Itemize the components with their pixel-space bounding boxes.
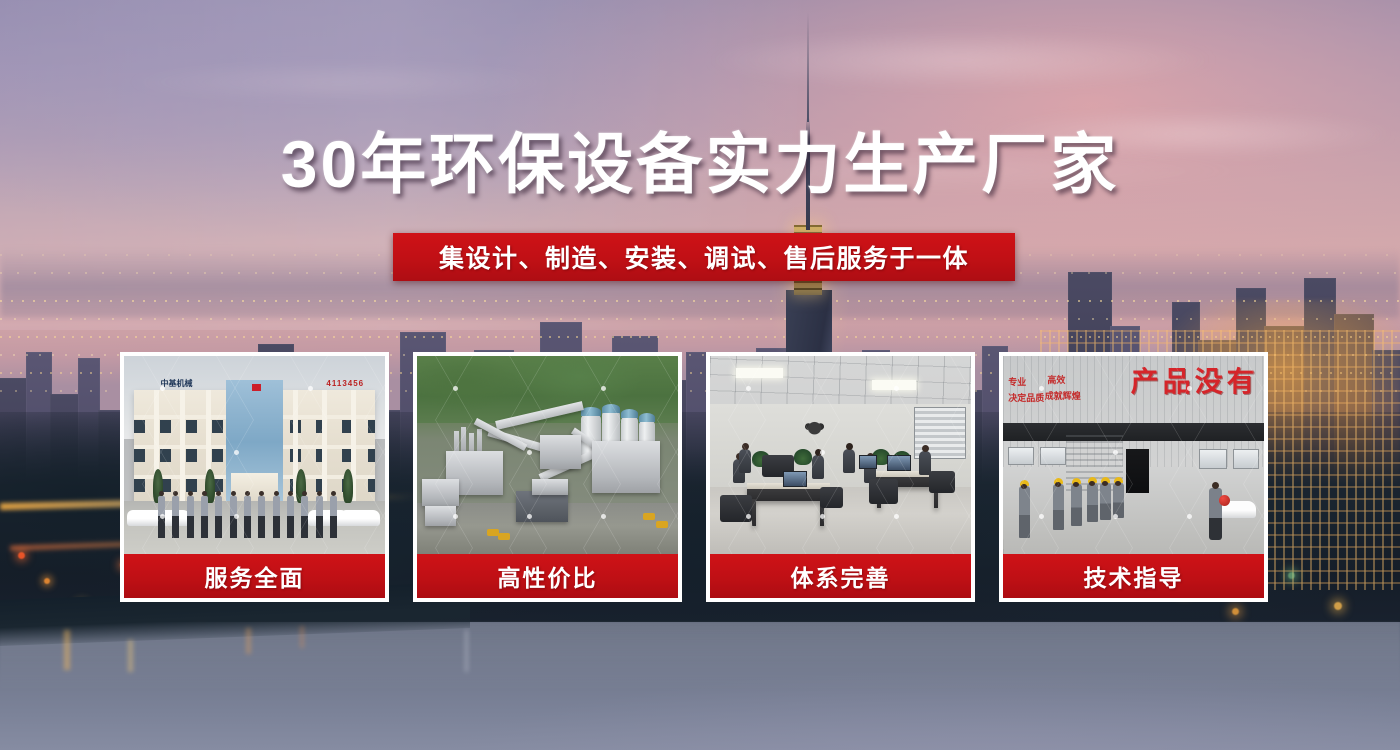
card-label-text: 体系完善 <box>791 559 891 593</box>
feature-card[interactable]: 体系完善 <box>706 352 975 602</box>
building-phone-text: 4113456 <box>275 376 364 392</box>
factory-banner-text: 产品没有 <box>1107 360 1258 400</box>
hero-banner: 30年环保设备实力生产厂家 集设计、制造、安装、调试、售后服务于一体 <box>0 0 1400 750</box>
subtitle-banner: 集设计、制造、安装、调试、售后服务于一体 <box>393 233 1015 281</box>
river-sheen <box>0 622 1400 750</box>
feature-card[interactable]: 高性价比 <box>413 352 682 602</box>
water-reflection <box>465 630 468 672</box>
factory-workers-training-photo: 产品没有 专业 决定品质 高效 成就辉煌 <box>999 352 1268 554</box>
page-title: 30年环保设备实力生产厂家 <box>0 131 1400 197</box>
card-label: 技术指导 <box>999 554 1268 602</box>
feature-card-row: 中基机械 4113456 <box>120 352 1280 602</box>
card-label-text: 技术指导 <box>1084 559 1184 593</box>
water-reflection <box>246 628 251 654</box>
subtitle-text: 集设计、制造、安装、调试、售后服务于一体 <box>439 239 969 275</box>
feature-card[interactable]: 中基机械 4113456 <box>120 352 389 602</box>
card-label: 服务全面 <box>120 554 389 602</box>
tower-spire-tip <box>807 12 809 122</box>
factory-slogan-text: 专业 <box>1008 378 1026 388</box>
card-label-text: 高性价比 <box>498 559 598 593</box>
company-office-building-photo: 中基机械 4113456 <box>120 352 389 554</box>
water-reflection <box>300 626 304 648</box>
factory-slogan-text: 决定品质 <box>1008 394 1044 404</box>
factory-slogan-text: 成就辉煌 <box>1045 392 1081 402</box>
building-sign-text: 中基机械 <box>161 376 260 392</box>
water-reflection <box>64 630 70 670</box>
office-interior-staff-photo <box>706 352 975 554</box>
wall-decal-icon <box>794 409 836 441</box>
card-label: 体系完善 <box>706 554 975 602</box>
water-reflection <box>128 640 133 672</box>
card-label-text: 服务全面 <box>205 559 305 593</box>
aerial-industrial-plant-photo <box>413 352 682 554</box>
card-label: 高性价比 <box>413 554 682 602</box>
feature-card[interactable]: 产品没有 专业 决定品质 高效 成就辉煌 <box>999 352 1268 602</box>
factory-slogan-text: 高效 <box>1047 376 1065 386</box>
